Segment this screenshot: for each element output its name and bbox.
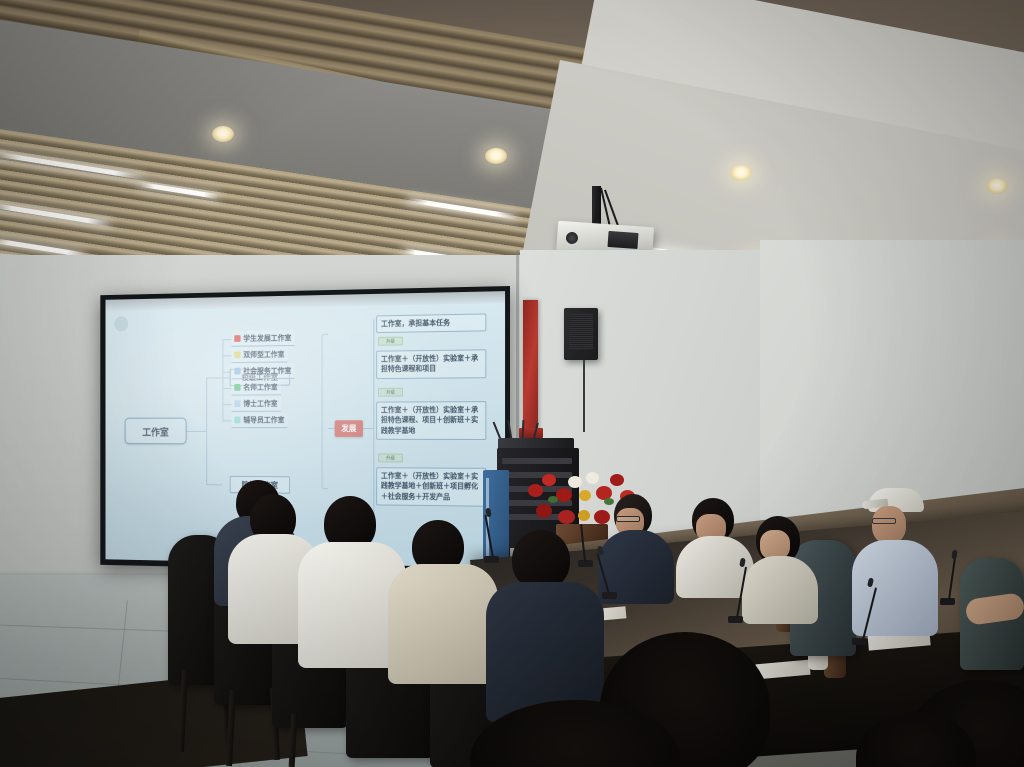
stage-box-3[interactable]: 工作室＋（开放性）实验室＋承担特色课程、项目＋创新班＋实践教学基地 xyxy=(376,401,486,440)
development-badge[interactable]: 发展 xyxy=(335,420,363,437)
connector-leaf-6 xyxy=(222,420,231,421)
attendee-left-4-body xyxy=(388,564,498,684)
rack-slot-1 xyxy=(502,458,572,464)
flower-white-2 xyxy=(586,472,599,484)
connector-lvl2-bottom xyxy=(206,484,222,485)
attendee-capped-man-body xyxy=(852,540,938,636)
stage-box-2-text: 工作室＋（开放性）实验室＋承担特色课程和项目 xyxy=(381,353,478,373)
downlight-2 xyxy=(485,148,507,164)
mic-base-3 xyxy=(852,638,867,645)
connector-lvl2-top xyxy=(206,377,222,378)
connector-root xyxy=(187,431,207,432)
attendee-capped-man-face xyxy=(872,506,906,544)
mindmap-leaf-1[interactable]: 学生发展工作室 xyxy=(232,330,295,346)
leaf-color-chip-2 xyxy=(234,351,240,358)
stage-tag-2-label: 升级 xyxy=(386,389,395,395)
mindmap-leaf-1-label: 学生发展工作室 xyxy=(243,332,291,343)
mindmap-leaf-4-label: 名师工作室 xyxy=(243,382,277,393)
leaf-color-chip-6 xyxy=(234,417,240,424)
mindmap-leaf-2-label: 双师型工作室 xyxy=(243,349,284,360)
attendee-glasses-man-glasses xyxy=(616,516,640,522)
flower-white-1 xyxy=(568,476,582,488)
connector-root-vert xyxy=(206,378,207,485)
mindmap-leaf-2[interactable]: 双师型工作室 xyxy=(232,347,288,363)
stage-box-2[interactable]: 工作室＋（开放性）实验室＋承担特色课程和项目 xyxy=(376,349,486,379)
stage-box-1[interactable]: 工作室，承担基本任务 xyxy=(376,313,486,333)
flower-red-7 xyxy=(536,504,552,518)
stage-box-4[interactable]: 工作室＋（开放性）实验室＋实践教学基地＋创新班＋项目孵化＋社会服务＋开发产品 xyxy=(376,467,486,507)
stage-box-3-text: 工作室＋（开放性）实验室＋承担特色课程、项目＋创新班＋实践教学基地 xyxy=(381,405,478,435)
stage-tag-3: 升级 xyxy=(378,454,403,463)
flower-yellow-2 xyxy=(578,510,590,521)
mindmap-leaf-3-label: 社会服务工作室 xyxy=(243,365,291,376)
stage-tag-1-label: 升级 xyxy=(386,338,395,344)
speaker-cable xyxy=(583,360,585,432)
projector-port-panel xyxy=(607,231,638,249)
mindmap-leaf-5-label: 博士工作室 xyxy=(243,398,277,409)
downlight-4 xyxy=(986,178,1008,194)
flower-red-9 xyxy=(594,510,610,524)
leaf-color-chip-1 xyxy=(234,335,240,342)
conference-room-photo: 工作室 校级工作室 院级工作室 学生发展工作室 双师型工作室 xyxy=(0,0,1024,767)
flower-red-2 xyxy=(542,474,556,486)
mindmap-root-node[interactable]: 工作室 xyxy=(125,418,187,445)
flower-yellow-1 xyxy=(579,490,591,501)
connector-leaf-5 xyxy=(222,404,231,405)
mindmap-leaf-4[interactable]: 名师工作室 xyxy=(232,380,281,396)
leaf-group-bracket xyxy=(322,334,329,489)
connector-stage-spine xyxy=(373,319,374,536)
flower-red-1 xyxy=(528,484,543,497)
leaf-color-chip-5 xyxy=(234,400,240,407)
connector-lvl2-to-leaf xyxy=(222,377,229,378)
mindmap-leaf-5[interactable]: 博士工作室 xyxy=(232,396,281,412)
stage-tag-2: 升级 xyxy=(378,388,403,397)
downlight-1 xyxy=(212,126,234,142)
flower-red-3 xyxy=(556,488,572,502)
mindmap-leaf-3[interactable]: 社会服务工作室 xyxy=(232,363,295,379)
attendee-far-3-body xyxy=(742,556,818,624)
flower-red-5 xyxy=(610,474,624,486)
connector-leaf-1 xyxy=(222,339,231,340)
leaf-color-chip-3 xyxy=(234,368,240,375)
mindmap-leaf-6-label: 辅导员工作室 xyxy=(243,415,284,426)
attendee-left-5-head xyxy=(512,530,570,590)
leaf-color-chip-4 xyxy=(234,384,240,391)
stage-box-4-text: 工作室＋（开放性）实验室＋实践教学基地＋创新班＋项目孵化＋社会服务＋开发产品 xyxy=(381,471,478,501)
downlight-3 xyxy=(730,165,752,181)
connector-leaf-4 xyxy=(222,388,231,389)
stage-tag-1: 升级 xyxy=(378,337,403,346)
stage-box-1-text: 工作室，承担基本任务 xyxy=(381,318,450,328)
connector-leaf-2 xyxy=(222,355,231,356)
wall-speaker xyxy=(564,308,598,360)
flower-green-leaf-2 xyxy=(604,498,614,505)
flower-red-8 xyxy=(558,510,575,524)
connector-leaf-spine xyxy=(222,339,223,421)
stage-tag-3-label: 升级 xyxy=(386,455,395,461)
flower-green-leaf xyxy=(548,496,558,503)
attendee-capped-man-glasses xyxy=(872,518,896,524)
mindmap-leaf-6[interactable]: 辅导员工作室 xyxy=(232,413,288,428)
development-badge-label: 发展 xyxy=(341,423,356,434)
mindmap-root-label: 工作室 xyxy=(142,424,169,438)
